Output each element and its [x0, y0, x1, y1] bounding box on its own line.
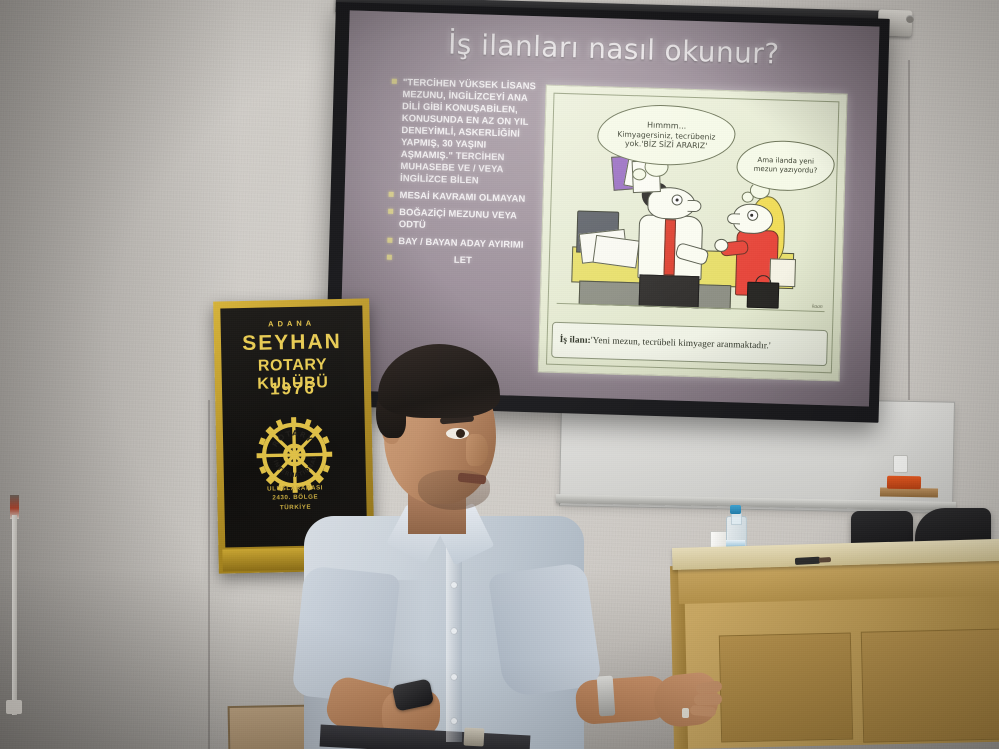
list-item: MESAİ KAVRAMI OLMAYAN [388, 189, 538, 206]
bullet-text: BOĞAZİÇİ MEZUNU VEYA ODTÜ [399, 206, 539, 234]
bottle-neck [731, 513, 742, 525]
shirt-button [451, 628, 457, 634]
bullet-square-icon [387, 255, 392, 260]
bottle-cap [730, 505, 741, 514]
flag-pole-base [6, 700, 22, 714]
cartoon-man-pants [639, 274, 700, 308]
list-item-occluded: LET [387, 252, 537, 269]
shirt-button [451, 582, 457, 588]
speech-bubble-interviewer: Hımmm... Kimyagersiniz, tecrübeniz yok.'… [597, 103, 737, 167]
bubble-line: mezun yazıyordu? [754, 165, 818, 175]
slide-title: İş ilanları nasıl okunur? [348, 24, 879, 73]
ring [682, 708, 689, 718]
bullet-square-icon [388, 209, 393, 214]
cartoonist-signature: kaan [812, 304, 823, 310]
presenter [290, 330, 720, 749]
bullet-text: BAY / BAYAN ADAY AYIRIMI [398, 235, 537, 251]
board-eraser [887, 476, 921, 490]
cartoon-man-nose [687, 200, 701, 212]
wall-seam-right [908, 60, 910, 400]
belt-buckle [464, 727, 485, 746]
wooden-desk [672, 548, 999, 749]
cartoon-interviewer [635, 182, 708, 306]
cartoon-papers [592, 235, 639, 269]
bullet-square-icon [387, 238, 392, 243]
cartoon-woman-nose [727, 213, 740, 224]
marker-body [795, 557, 820, 565]
bubble-line: yok.'BİZ SİZİ ARARIZ' [625, 139, 708, 151]
shirt-button [451, 718, 457, 724]
presenter-right-sleeve [488, 562, 602, 698]
finger [695, 680, 722, 695]
speech-bubble-applicant: Ama ilanda yeni mezun yazıyordu? [736, 139, 835, 192]
presenter-nose [466, 434, 488, 466]
marker-cap [819, 557, 831, 563]
list-item: BOĞAZİÇİ MEZUNU VEYA ODTÜ [388, 206, 539, 235]
slide-bullet-list: "TERCİHEN YÜKSEK LİSANS MEZUNU, İNGİLİZC… [387, 76, 542, 274]
projector-screen-knob [906, 15, 914, 23]
cartoon-man-tie [664, 219, 677, 275]
bullet-text: "TERCİHEN YÜKSEK LİSANS MEZUNU, İNGİLİZC… [401, 76, 536, 161]
desk-panel [719, 633, 853, 743]
lecture-room-photo: İş ilanları nasıl okunur? "TERCİHEN YÜKS… [0, 0, 999, 749]
cartoon-applicant [725, 195, 798, 309]
shirt-placket [446, 542, 462, 742]
desk-panel [861, 628, 999, 742]
cartoon-briefcase [747, 282, 780, 309]
flag-pole [12, 515, 17, 715]
presenter-eye [446, 428, 469, 439]
shirt-button [451, 674, 457, 680]
bullet-square-icon [392, 79, 397, 84]
list-item: "TERCİHEN YÜKSEK LİSANS MEZUNU, İNGİLİZC… [389, 76, 542, 189]
cartoon-drawing: Hımmm... Kimyagersiniz, tecrübeniz yok.'… [549, 94, 839, 317]
presenter-pupil [456, 429, 465, 438]
finger [690, 705, 717, 717]
finger [694, 694, 722, 706]
wrist-watch [597, 675, 616, 716]
list-item: BAY / BAYAN ADAY AYIRIMI [387, 235, 537, 252]
wall-outlet [893, 455, 908, 473]
presenter-hair [378, 344, 500, 418]
bullet-text: LET [398, 252, 537, 268]
banner-city: ADANA [221, 318, 363, 330]
bullet-square-icon [389, 192, 394, 197]
bullet-text: MESAİ KAVRAMI OLMAYAN [399, 189, 538, 205]
